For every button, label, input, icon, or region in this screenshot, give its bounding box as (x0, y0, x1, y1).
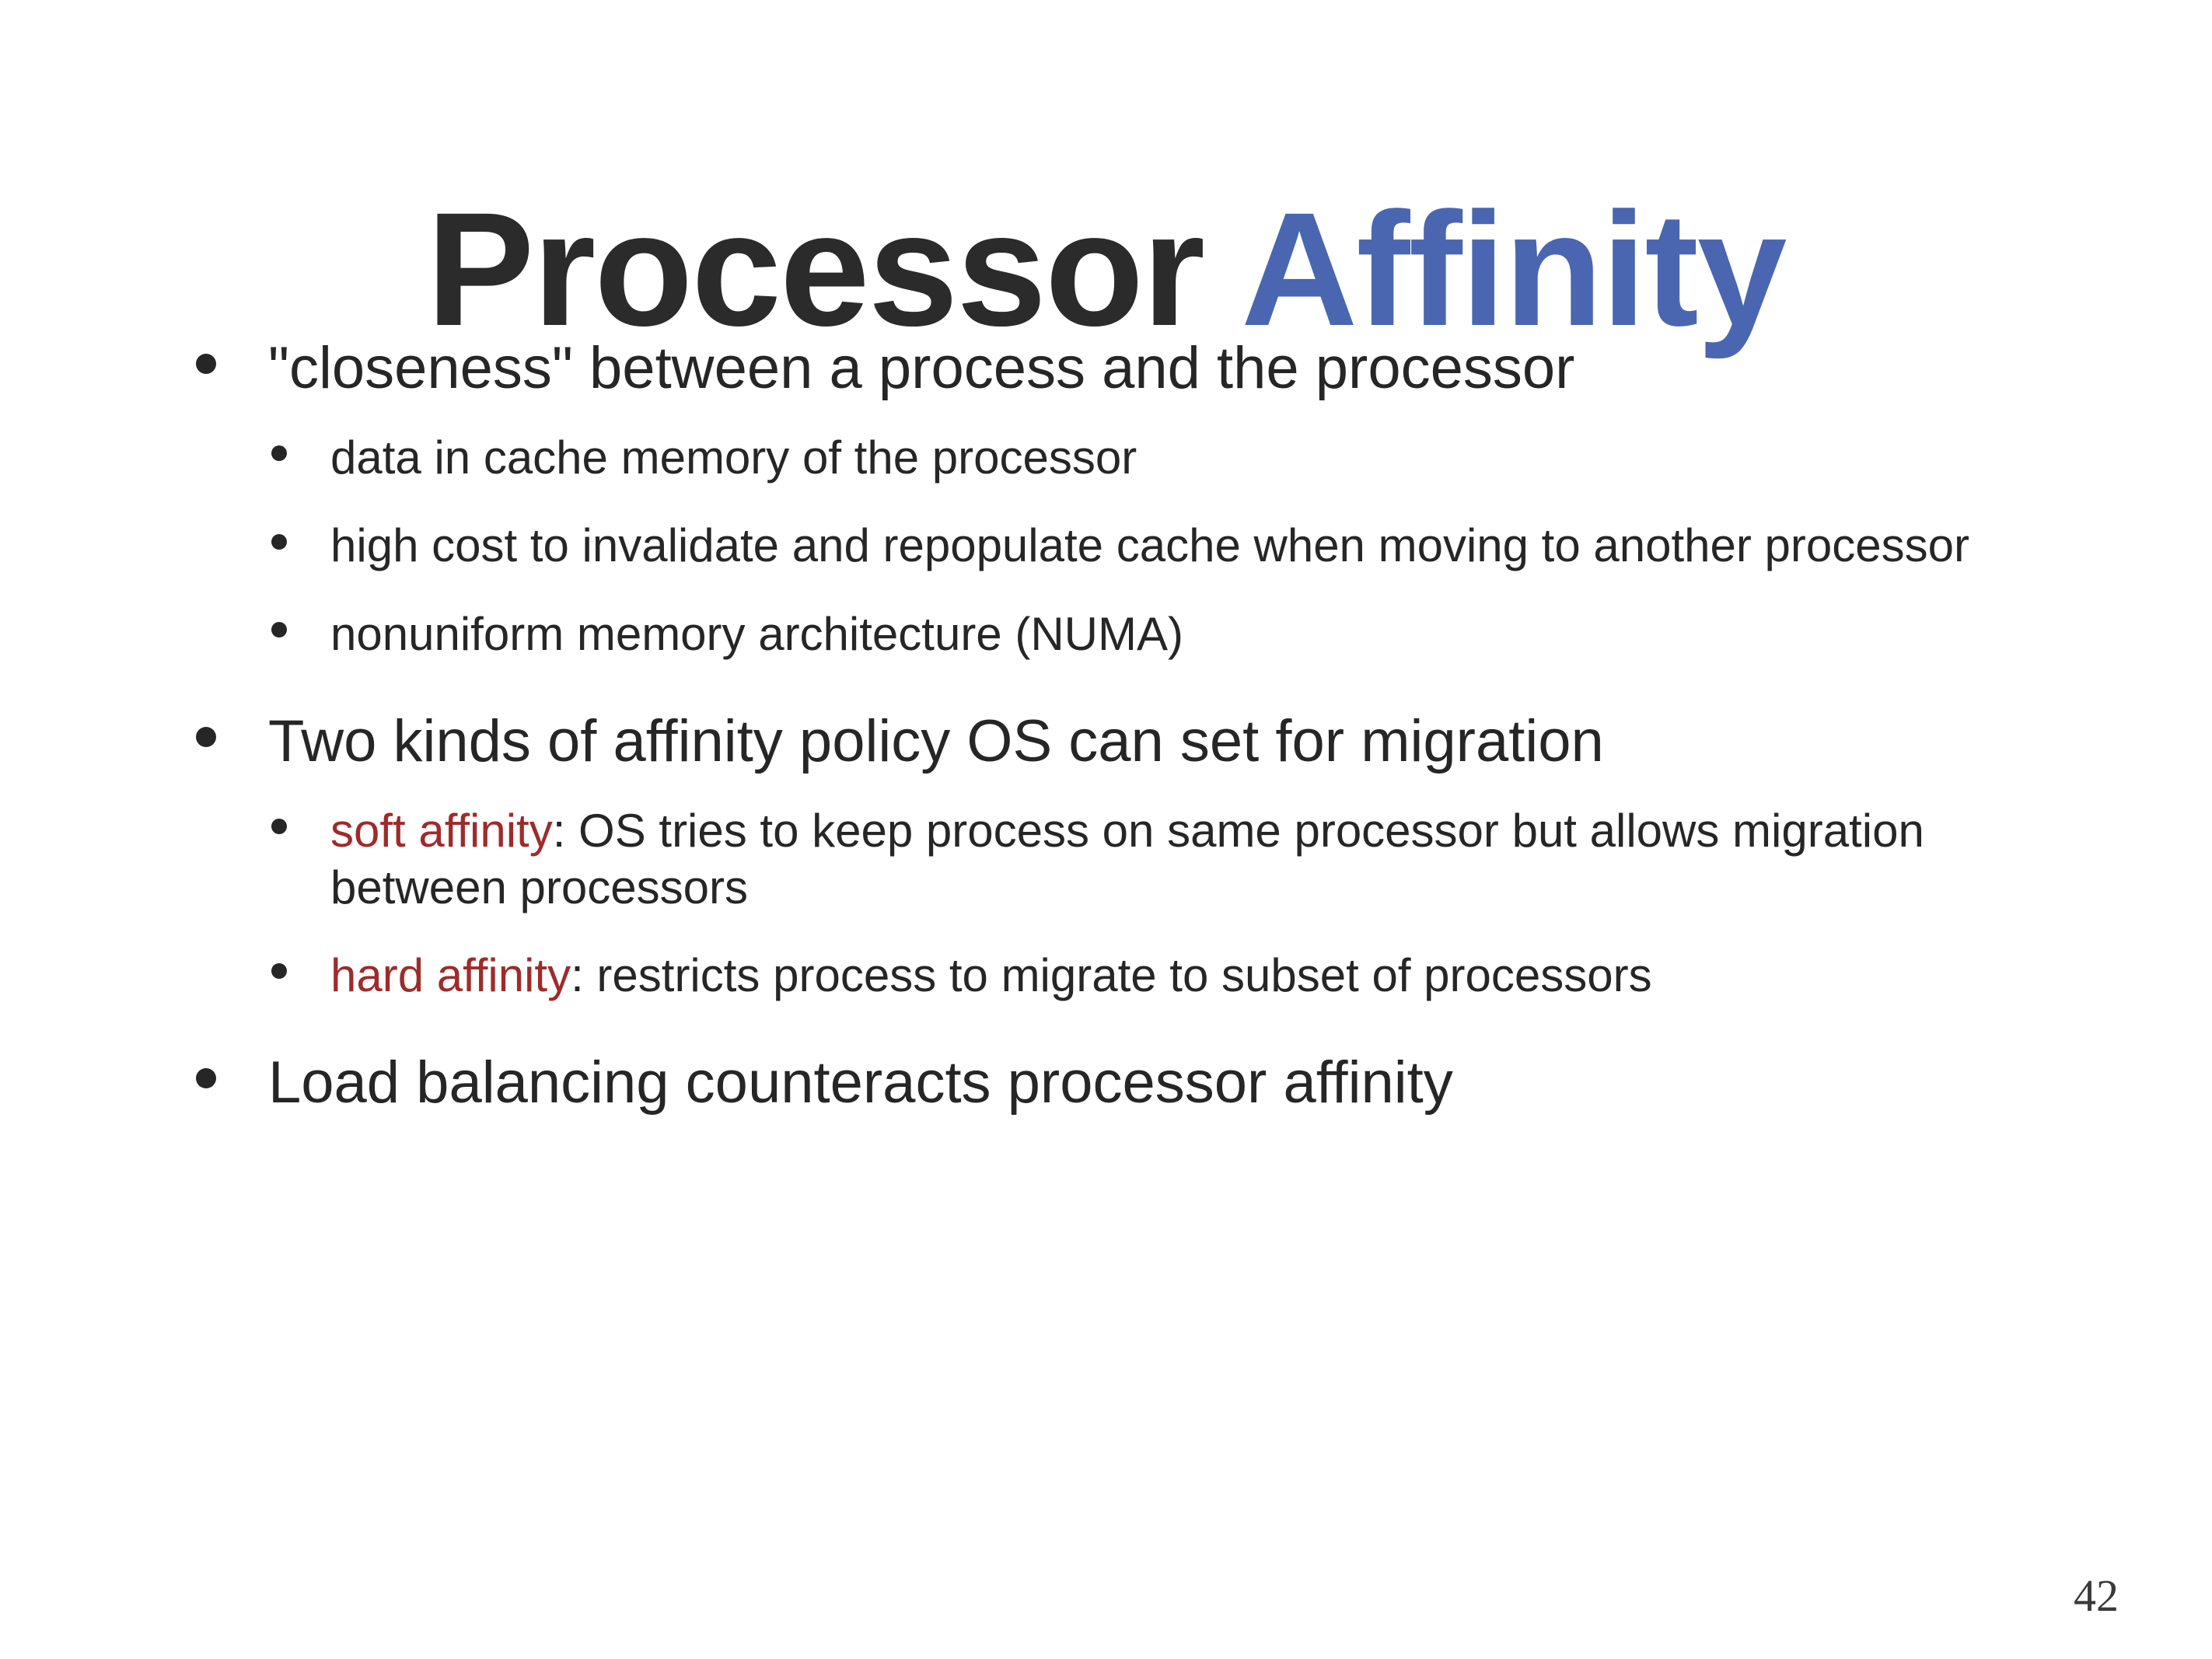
list-item: data in cache memory of the processor (0, 429, 2212, 486)
list-item-label: "closeness" between a process and the pr… (268, 335, 1574, 401)
bullet-icon (196, 354, 216, 374)
list-item-label: high cost to invalidate and repopulate c… (330, 519, 1969, 571)
bullet-icon (271, 445, 287, 461)
title-part-black: Processor (427, 180, 1242, 360)
bullet-list: "closeness" between a process and the pr… (0, 334, 2212, 1144)
title-part-blue: Affinity (1241, 180, 1785, 360)
list-item-label: nonuniform memory architecture (NUMA) (330, 608, 1183, 660)
list-item: Two kinds of affinity policy OS can set … (0, 707, 2212, 776)
list-item: hard affinity: restricts process to migr… (0, 947, 2212, 1004)
list-item-highlight: soft affinity (330, 805, 553, 857)
list-item: high cost to invalidate and repopulate c… (0, 517, 2212, 574)
list-item-label: Load balancing counteracts processor aff… (268, 1050, 1453, 1116)
list-item-label: : restricts process to migrate to subset… (571, 949, 1652, 1001)
bullet-icon (271, 963, 287, 979)
list-item-highlight: hard affinity (330, 949, 571, 1001)
bullet-icon (196, 1068, 216, 1088)
list-item: soft affinity: OS tries to keep process … (0, 802, 2212, 916)
page-title: Processor Affinity (0, 183, 2212, 358)
list-item: nonuniform memory architecture (NUMA) (0, 606, 2212, 662)
list-item-label: data in cache memory of the processor (330, 431, 1137, 484)
bullet-icon (271, 622, 287, 637)
list-item-label: : OS tries to keep process on same proce… (330, 805, 1924, 913)
list-item-label: Two kinds of affinity policy OS can set … (268, 708, 1604, 774)
page-number: 42 (2074, 1570, 2119, 1622)
bullet-icon (271, 819, 287, 834)
slide-canvas: Processor Affinity "closeness" between a… (0, 0, 2212, 1659)
list-item: "closeness" between a process and the pr… (0, 334, 2212, 403)
bullet-icon (196, 727, 216, 747)
list-item: Load balancing counteracts processor aff… (0, 1049, 2212, 1117)
bullet-icon (271, 534, 287, 550)
